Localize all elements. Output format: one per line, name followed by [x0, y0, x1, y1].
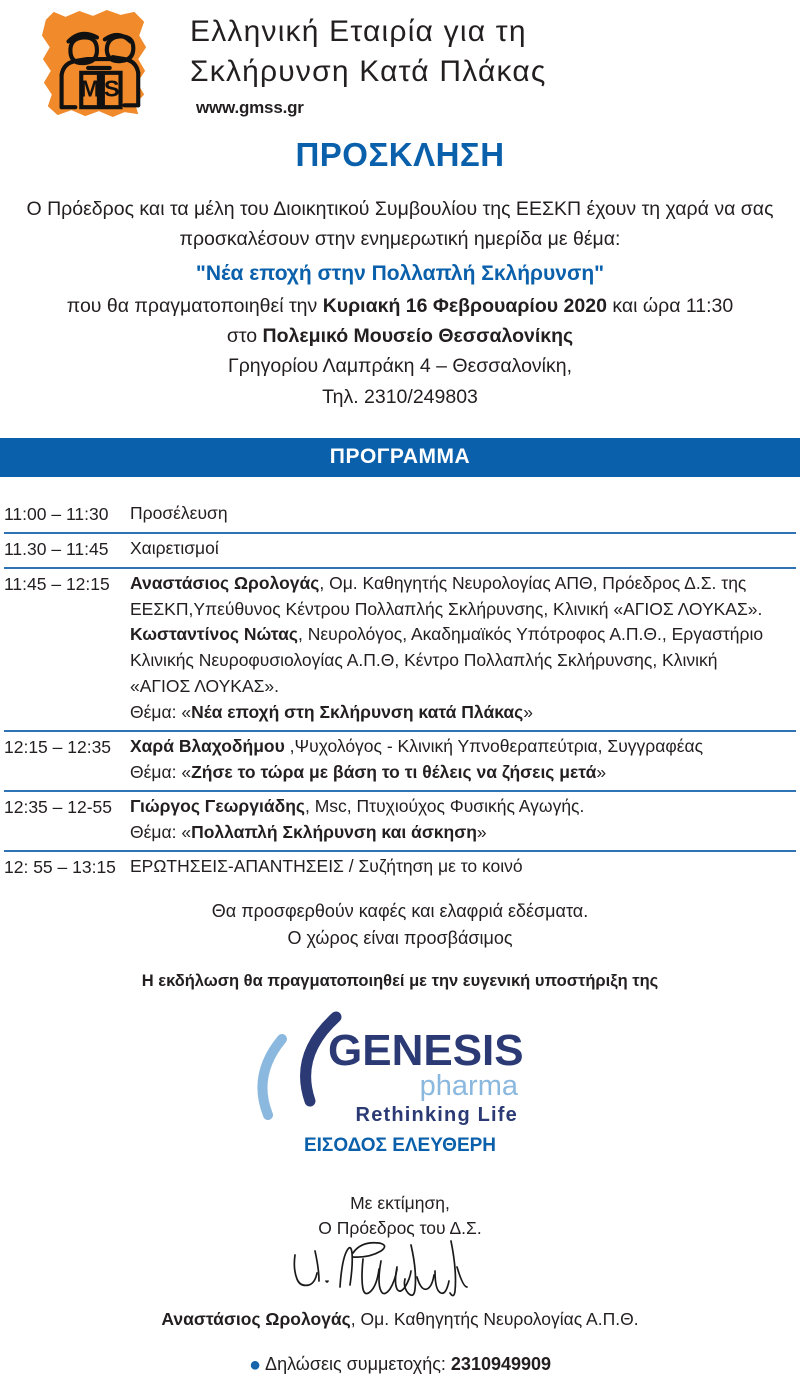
program-row-time: 11:45 – 12:15 — [4, 571, 130, 598]
program-row-description: Χαρά Βλαχοδήμου ,Ψυχολόγος - Κλινική Υπν… — [130, 734, 796, 786]
event-subject: "Νέα εποχή στην Πολλαπλή Σκλήρυνση" — [14, 258, 786, 291]
program-row-line: ΕΕΣΚΠ,Υπεύθυνος Κέντρου Πολλαπλής Σκλήρυ… — [130, 597, 796, 623]
signer-name: Αναστάσιος Ωρολογάς — [161, 1309, 350, 1329]
regards-block: Με εκτίμηση, Ο Πρόεδρος του Δ.Σ. — [0, 1191, 800, 1241]
program-row-line: Θέμα: «Ζήσε το τώρα με βάση το τι θέλεις… — [130, 760, 796, 786]
program-emphasis-text: Πολλαπλή Σκλήρυνση και άσκηση — [191, 822, 477, 842]
program-plain-text: Θέμα: « — [130, 702, 191, 722]
program-row-time: 12:35 – 12-55 — [4, 794, 130, 821]
handwritten-signature — [285, 1237, 515, 1309]
program-row-line: Θέμα: «Νέα εποχή στη Σκλήρυνση κατά Πλάκ… — [130, 700, 796, 726]
signer-title: , Ομ. Καθηγητής Νευρολογίας Α.Π.Θ. — [351, 1309, 639, 1329]
program-emphasis-text: Νέα εποχή στη Σκλήρυνση κατά Πλάκας — [191, 702, 523, 722]
sponsor-tagline: Rethinking Life — [356, 1104, 518, 1126]
event-notes: Θα προσφερθούν καφές και ελαφριά εδέσματ… — [0, 898, 800, 952]
program-row: 11:45 – 12:15Αναστάσιος Ωρολογάς, Ομ. Κα… — [4, 569, 796, 732]
event-venue: στο Πολεμικό Μουσείο Θεσσαλονίκης — [14, 321, 786, 351]
program-plain-text: » — [596, 762, 606, 782]
invite-body: Ο Πρόεδρος και τα μέλη του Διοικητικού Σ… — [0, 194, 800, 412]
program-row-description: Γιώργος Γεωργιάδης, Msc, Πτυχιούχος Φυσι… — [130, 794, 796, 846]
program-row-time: 11.30 – 11:45 — [4, 536, 130, 563]
venue-name: Πολεμικό Μουσείο Θεσσαλονίκης — [263, 325, 574, 347]
invite-intro-line1: Ο Πρόεδρος και τα μέλη του Διοικητικού Σ… — [14, 194, 786, 224]
regards-line1: Με εκτίμηση, — [0, 1191, 800, 1216]
program-plain-text: , Ομ. Καθηγητής Νευρολογίας ΑΠΘ, Πρόεδρο… — [319, 573, 746, 593]
logo-letter-s: S — [104, 75, 120, 101]
free-entry-notice: ΕΙΣΟΔΟΣ ΕΛΕΥΘΕΡΗ — [0, 1135, 800, 1157]
enrollment-line: ●Δηλώσεις συμμετοχής: 2310949909 — [0, 1354, 800, 1375]
venue-phone: Τηλ. 2310/249803 — [14, 382, 786, 412]
program-row: 12: 55 – 13:15ΕΡΩΤΗΣΕΙΣ-ΑΠΑΝΤΗΣΕΙΣ / Συζ… — [4, 852, 796, 885]
program-row-description: Αναστάσιος Ωρολογάς, Ομ. Καθηγητής Νευρο… — [130, 571, 796, 726]
program-plain-text: ,Ψυχολόγος - Κλινική Υπνοθεραπεύτρια, Συ… — [285, 736, 703, 756]
notes-line2: Ο χώρος είναι προσβάσιμος — [0, 925, 800, 952]
program-plain-text: » — [477, 822, 487, 842]
logo-arc-light — [262, 1039, 282, 1115]
event-date: Κυριακή 16 Φεβρουαρίου 2020 — [323, 295, 607, 317]
program-row-line: Χαρά Βλαχοδήμου ,Ψυχολόγος - Κλινική Υπν… — [130, 734, 796, 760]
notes-line1: Θα προσφερθούν καφές και ελαφριά εδέσματ… — [0, 898, 800, 925]
program-row-line: Αναστάσιος Ωρολογάς, Ομ. Καθηγητής Νευρο… — [130, 571, 796, 597]
program-plain-text: Χαιρετισμοί — [130, 538, 219, 558]
program-row-line: ΕΡΩΤΗΣΕΙΣ-ΑΠΑΝΤΗΣΕΙΣ / Συζήτηση με το κο… — [130, 854, 796, 880]
program-row-line: Γιώργος Γεωργιάδης, Msc, Πτυχιούχος Φυσι… — [130, 794, 796, 820]
program-row: 12:15 – 12:35Χαρά Βλαχοδήμου ,Ψυχολόγος … — [4, 732, 796, 792]
program-row-description: Προσέλευση — [130, 501, 796, 527]
venue-prefix: στο — [227, 325, 263, 347]
event-datetime: που θα πραγματοποιηθεί την Κυριακή 16 Φε… — [14, 291, 786, 321]
program-emphasis-text: Γιώργος Γεωργιάδης — [130, 796, 305, 816]
sponsor-subname: pharma — [420, 1070, 519, 1102]
program-row-description: Χαιρετισμοί — [130, 536, 796, 562]
org-name-line2: Σκλήρυνση Κατά Πλάκας — [190, 52, 547, 92]
org-website: www.gmss.gr — [196, 98, 547, 118]
ms-society-logo: M S — [36, 8, 154, 120]
signer-line: Αναστάσιος Ωρολογάς, Ομ. Καθηγητής Νευρο… — [0, 1309, 800, 1330]
document-header: M S Ελληνική Εταιρία για τη Σκλήρυνση Κα… — [0, 0, 800, 122]
enroll-phone: 2310949909 — [451, 1354, 551, 1374]
venue-address: Γρηγορίου Λαμπράκη 4 – Θεσσαλονίκη, — [14, 351, 786, 381]
when-prefix: που θα πραγματοποιηθεί την — [67, 295, 323, 317]
program-plain-text: , Msc, Πτυχιούχος Φυσικής Αγωγής. — [305, 796, 584, 816]
program-emphasis-text: Κωσταντίνος Νώτας — [130, 624, 298, 644]
program-row-line: Χαιρετισμοί — [130, 536, 796, 562]
program-row-time: 12:15 – 12:35 — [4, 734, 130, 761]
sponsor-name: GENESIS — [328, 1026, 524, 1075]
invite-intro-line2: προσκαλέσουν στην ενημερωτική ημερίδα με… — [14, 224, 786, 254]
program-plain-text: , Νευρολόγος, Ακαδημαϊκός Υπότροφος Α.Π.… — [298, 624, 763, 644]
program-plain-text: Κλινικής Νευροφυσιολογίας Α.Π.Θ, Κέντρο … — [130, 650, 717, 670]
program-plain-text: Προσέλευση — [130, 503, 228, 523]
page-title: ΠΡΟΣΚΛΗΣΗ — [0, 136, 800, 174]
when-suffix: και ώρα 11:30 — [607, 295, 733, 317]
program-row-line: Κλινικής Νευροφυσιολογίας Α.Π.Θ, Κέντρο … — [130, 648, 796, 674]
program-row-time: 11:00 – 11:30 — [4, 501, 130, 528]
program-plain-text: Θέμα: « — [130, 762, 191, 782]
program-emphasis-text: Αναστάσιος Ωρολογάς — [130, 573, 319, 593]
program-row-line: Θέμα: «Πολλαπλή Σκλήρυνση και άσκηση» — [130, 820, 796, 846]
sponsor-support-text: Η εκδήλωση θα πραγματοποιηθεί με την ευγ… — [0, 972, 800, 991]
org-name-line1: Ελληνική Εταιρία για τη — [190, 12, 547, 52]
program-row-time: 12: 55 – 13:15 — [4, 854, 130, 881]
program-row: 12:35 – 12-55Γιώργος Γεωργιάδης, Msc, Πτ… — [4, 792, 796, 852]
program-plain-text: Θέμα: « — [130, 822, 191, 842]
genesis-pharma-logo: GENESIS pharma Rethinking Life — [250, 1009, 550, 1127]
program-emphasis-text: Χαρά Βλαχοδήμου — [130, 736, 285, 756]
program-row: 11.30 – 11:45Χαιρετισμοί — [4, 534, 796, 569]
bullet-icon: ● — [249, 1354, 261, 1376]
enroll-label: Δηλώσεις συμμετοχής: — [265, 1354, 451, 1374]
program-plain-text: ΕΕΣΚΠ,Υπεύθυνος Κέντρου Πολλαπλής Σκλήρυ… — [130, 599, 762, 619]
program-row: 11:00 – 11:30Προσέλευση — [4, 499, 796, 534]
program-row-description: ΕΡΩΤΗΣΕΙΣ-ΑΠΑΝΤΗΣΕΙΣ / Συζήτηση με το κο… — [130, 854, 796, 880]
program-banner: ΠΡΟΓΡΑΜΜΑ — [0, 438, 800, 477]
program-row-line: Κωσταντίνος Νώτας, Νευρολόγος, Ακαδημαϊκ… — [130, 622, 796, 648]
program-plain-text: ΕΡΩΤΗΣΕΙΣ-ΑΠΑΝΤΗΣΕΙΣ / Συζήτηση με το κο… — [130, 856, 523, 876]
organization-block: Ελληνική Εταιρία για τη Σκλήρυνση Κατά Π… — [190, 6, 547, 118]
program-table: 11:00 – 11:30Προσέλευση11.30 – 11:45Χαιρ… — [0, 499, 800, 885]
sponsor-logo-container: GENESIS pharma Rethinking Life — [0, 1009, 800, 1127]
program-plain-text: » — [523, 702, 533, 722]
logo-letter-m: M — [80, 75, 100, 101]
program-emphasis-text: Ζήσε το τώρα με βάση το τι θέλεις να ζήσ… — [191, 762, 596, 782]
logo-container: M S — [0, 6, 190, 120]
program-plain-text: «ΑΓΙΟΣ ΛΟΥΚΑΣ». — [130, 676, 279, 696]
program-row-line: Προσέλευση — [130, 501, 796, 527]
signature-container — [0, 1237, 800, 1309]
program-row-line: «ΑΓΙΟΣ ΛΟΥΚΑΣ». — [130, 674, 796, 700]
